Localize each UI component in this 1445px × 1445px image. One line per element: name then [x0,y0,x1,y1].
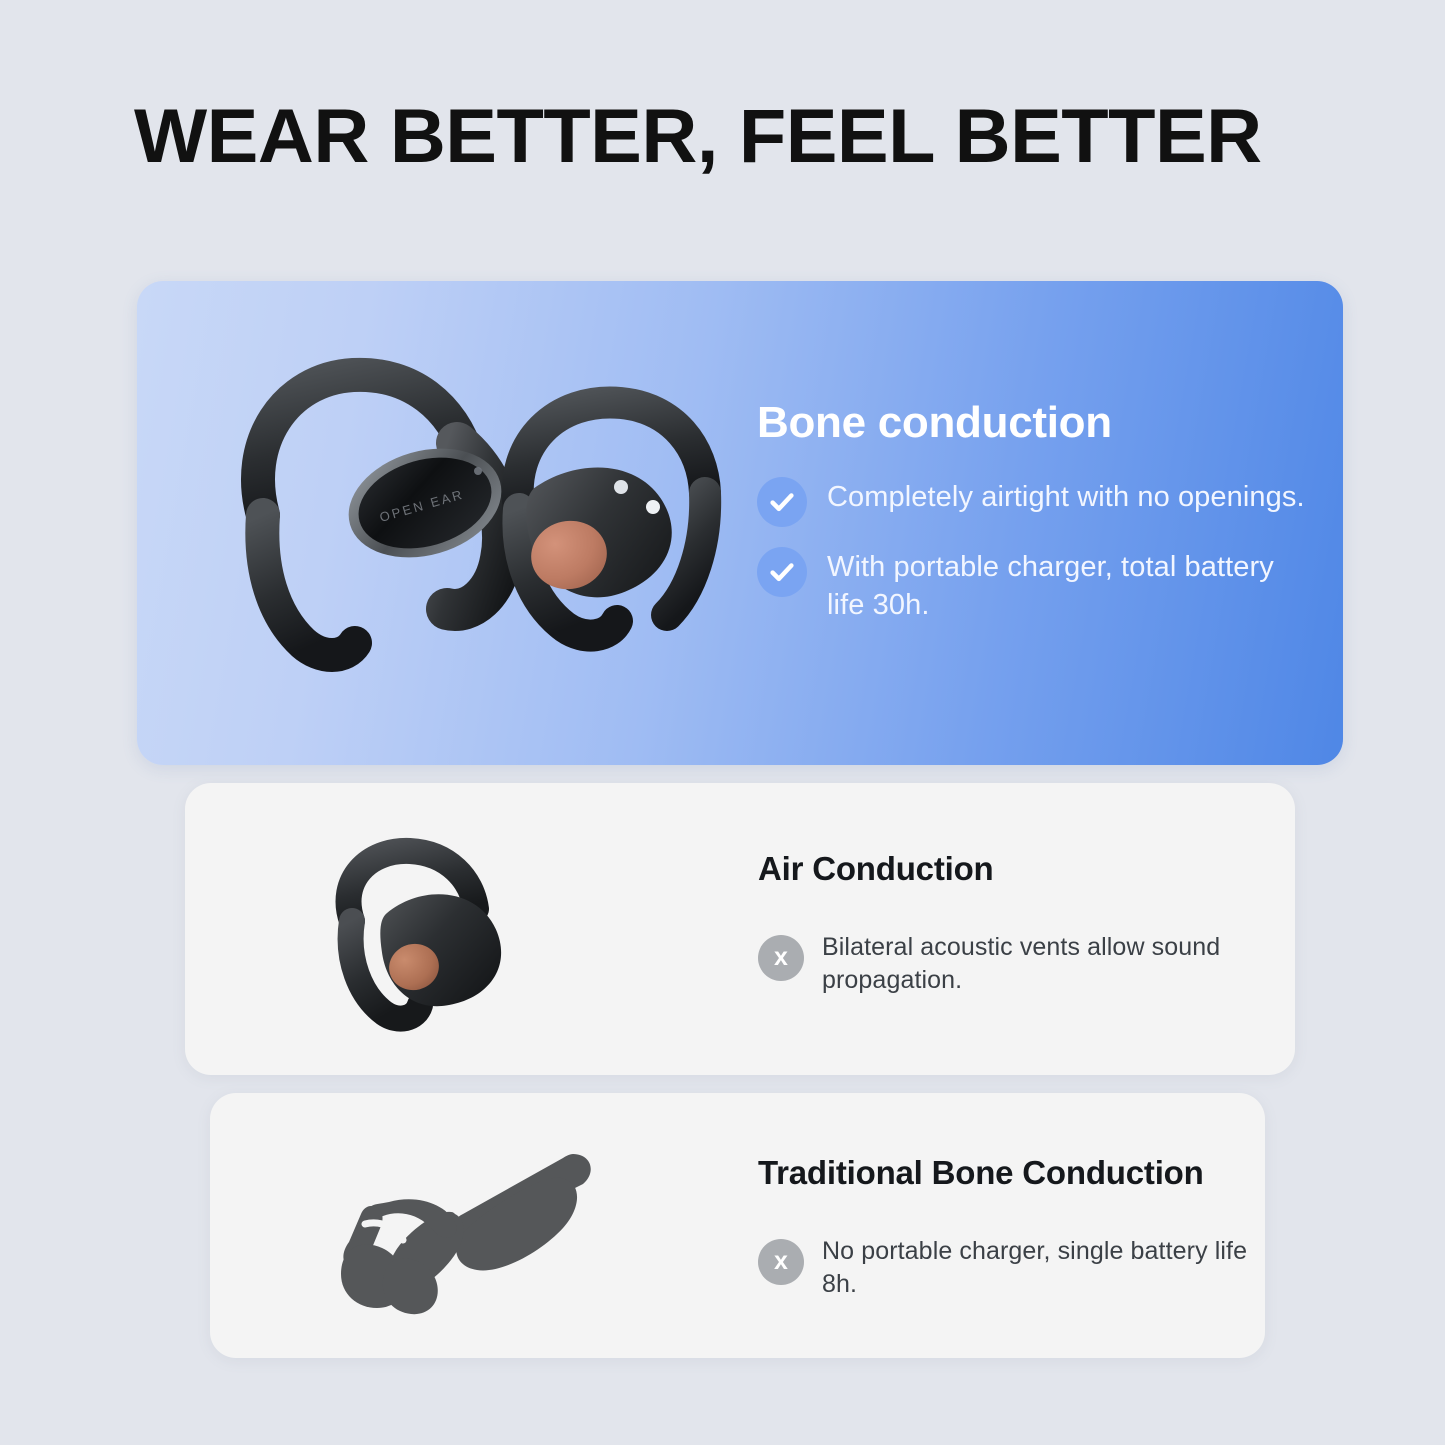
card-body-bone-conduction: Bone conduction Completely airtight with… [757,399,1317,624]
x-icon-glyph: x [774,945,788,970]
check-icon [757,547,807,597]
bullet-text: No portable charger, single battery life… [822,1235,1258,1301]
bullet-text: With portable charger, total battery lif… [827,549,1317,623]
earbuds-pair-illustration: OPEN EAR [217,341,757,701]
x-icon: x [758,1239,804,1285]
card-heading-bone-conduction: Bone conduction [757,399,1317,447]
card-bone-conduction: OPEN EAR Bone conduction Com [137,281,1343,765]
product-image-air-conduction [280,825,620,1035]
bullet-item: Completely airtight with no openings. [757,479,1317,527]
bullet-text: Completely airtight with no openings. [827,479,1305,516]
card-traditional-bone-conduction: Traditional Bone Conduction x No portabl… [210,1093,1265,1358]
x-icon-glyph: x [774,1249,788,1274]
card-air-conduction: Air Conduction x Bilateral acoustic vent… [185,783,1295,1075]
neckband-headset-silhouette [305,1128,645,1328]
card-heading-air-conduction: Air Conduction [758,851,1228,887]
product-image-traditional-bone-conduction [305,1128,645,1328]
bullet-item: x No portable charger, single battery li… [758,1235,1258,1301]
single-earbud-illustration [280,825,620,1035]
product-image-bone-conduction: OPEN EAR [217,341,757,701]
card-body-air-conduction: Air Conduction x Bilateral acoustic vent… [758,851,1228,997]
x-icon: x [758,935,804,981]
card-heading-traditional-bone-conduction: Traditional Bone Conduction [758,1155,1258,1191]
page-title: WEAR BETTER, FEEL BETTER [134,94,1358,180]
check-icon [757,477,807,527]
bullet-text: Bilateral acoustic vents allow sound pro… [822,931,1228,997]
bullet-item: With portable charger, total battery lif… [757,549,1317,623]
card-body-traditional-bone-conduction: Traditional Bone Conduction x No portabl… [758,1155,1258,1301]
bullet-item: x Bilateral acoustic vents allow sound p… [758,931,1228,997]
